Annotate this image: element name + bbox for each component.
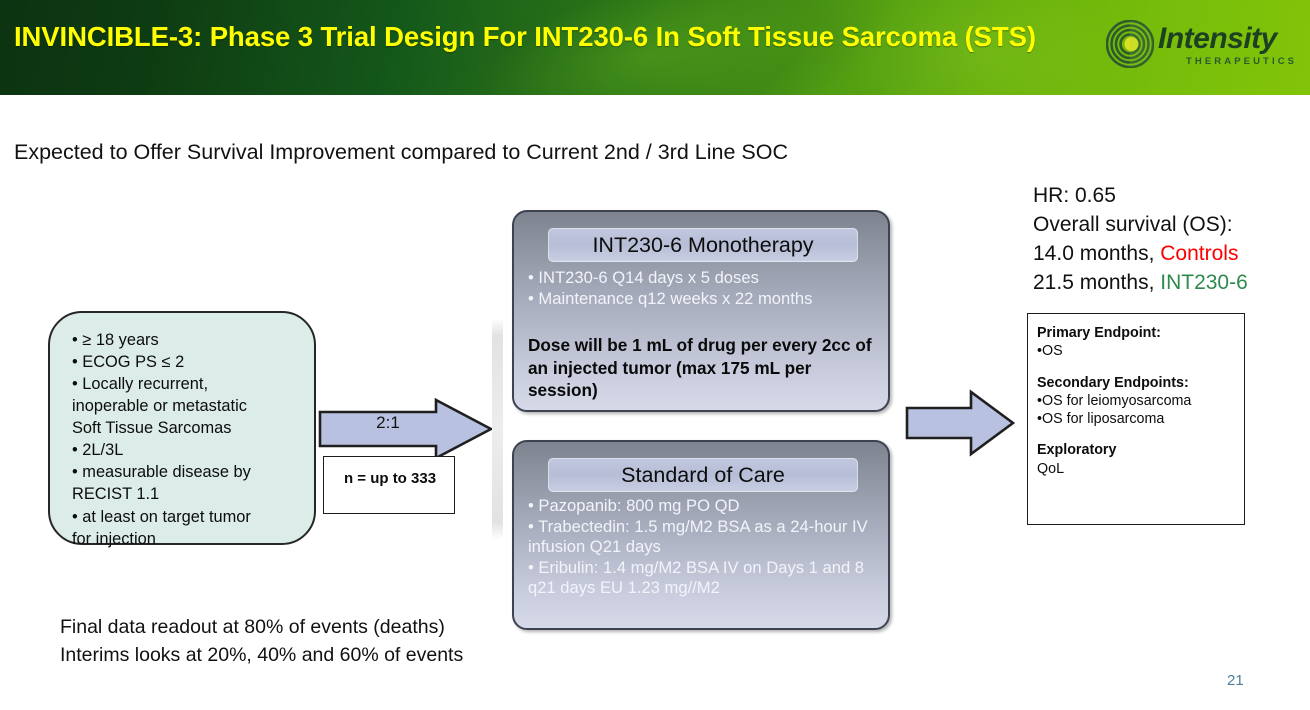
list-item: inoperable or metastatic (72, 395, 304, 417)
sample-size-label: n = up to 333 (324, 470, 456, 487)
list-item: for injection (72, 528, 304, 550)
list-item: • ECOG PS ≤ 2 (72, 351, 304, 373)
list-item: • INT230-6 Q14 days x 5 doses (528, 268, 884, 289)
treatment-arm-monotherapy: INT230-6 Monotherapy • INT230-6 Q14 days… (512, 210, 890, 412)
list-item: • ≥ 18 years (72, 329, 304, 351)
treatment-group-label: INT230-6 (1160, 271, 1248, 294)
footer-notes: Final data readout at 80% of events (dea… (60, 614, 463, 669)
slide-canvas: INVINCIBLE-3: Phase 3 Trial Design For I… (0, 0, 1310, 710)
footer-note-line: Interims looks at 20%, 40% and 60% of ev… (60, 642, 463, 670)
slide-subtitle: Expected to Offer Survival Improvement c… (14, 140, 788, 165)
logo-tagline: THERAPEUTICS (1186, 56, 1297, 67)
secondary-endpoints-heading: Secondary Endpoints: (1037, 374, 1237, 392)
list-item: • at least on target tumor (72, 506, 304, 528)
spacer (1037, 361, 1237, 374)
control-survival-value: 14.0 months, (1033, 242, 1160, 265)
arm-grouping-bracket (492, 318, 503, 540)
intensity-therapeutics-logo: Intensity THERAPEUTICS (1106, 16, 1296, 78)
outcome-arrow-icon (905, 388, 1015, 458)
list-item: • Trabectedin: 1.5 mg/M2 BSA as a 24-hou… (528, 517, 884, 558)
exploratory-heading: Exploratory (1037, 441, 1237, 459)
footer-note-line: Final data readout at 80% of events (dea… (60, 614, 463, 642)
arm-title-standard-of-care: Standard of Care (548, 458, 858, 492)
concentric-rings-logo-icon (1106, 20, 1154, 68)
logo-wordmark: Intensity (1158, 22, 1277, 56)
list-item: • Locally recurrent, (72, 373, 304, 395)
sample-size-box: n = up to 333 (323, 456, 455, 514)
results-summary: HR: 0.65 Overall survival (OS): 14.0 mon… (1033, 182, 1305, 298)
list-item: • Eribulin: 1.4 mg/M2 BSA IV on Days 1 a… (528, 558, 884, 599)
list-item: •OS (1037, 342, 1237, 360)
arm-bullets-monotherapy: • INT230-6 Q14 days x 5 doses • Maintena… (528, 268, 884, 309)
control-survival-line: 14.0 months, Controls (1033, 240, 1305, 269)
list-item: QoL (1037, 460, 1237, 478)
treatment-arm-standard-of-care: Standard of Care • Pazopanib: 800 mg PO … (512, 440, 890, 630)
arm-bullets-standard-of-care: • Pazopanib: 800 mg PO QD • Trabectedin:… (528, 496, 884, 599)
overall-survival-label: Overall survival (OS): (1033, 211, 1305, 240)
list-item: •OS for leiomyosarcoma (1037, 392, 1237, 410)
eligibility-criteria-list: • ≥ 18 years • ECOG PS ≤ 2 • Locally rec… (72, 329, 304, 550)
list-item: • Pazopanib: 800 mg PO QD (528, 496, 884, 517)
spacer (1037, 428, 1237, 441)
list-item: • measurable disease by (72, 461, 304, 483)
treatment-survival-value: 21.5 months, (1033, 271, 1160, 294)
list-item: • Maintenance q12 weeks x 22 months (528, 289, 884, 310)
list-item: Soft Tissue Sarcomas (72, 417, 304, 439)
control-group-label: Controls (1160, 242, 1238, 265)
randomization-ratio-label: 2:1 (318, 413, 458, 433)
treatment-survival-line: 21.5 months, INT230-6 (1033, 269, 1305, 298)
arm-dose-note-monotherapy: Dose will be 1 mL of drug per every 2cc … (528, 334, 884, 402)
list-item: •OS for liposarcoma (1037, 410, 1237, 428)
page-title: INVINCIBLE-3: Phase 3 Trial Design For I… (14, 21, 1084, 53)
hazard-ratio-line: HR: 0.65 (1033, 182, 1305, 211)
primary-endpoint-heading: Primary Endpoint: (1037, 324, 1237, 342)
eligibility-criteria-box: • ≥ 18 years • ECOG PS ≤ 2 • Locally rec… (48, 311, 316, 545)
list-item: • 2L/3L (72, 439, 304, 461)
page-number: 21 (1227, 672, 1244, 689)
endpoints-content: Primary Endpoint: •OS Secondary Endpoint… (1037, 324, 1237, 478)
endpoints-box: Primary Endpoint: •OS Secondary Endpoint… (1027, 313, 1245, 525)
list-item: RECIST 1.1 (72, 483, 304, 505)
arm-title-monotherapy: INT230-6 Monotherapy (548, 228, 858, 262)
